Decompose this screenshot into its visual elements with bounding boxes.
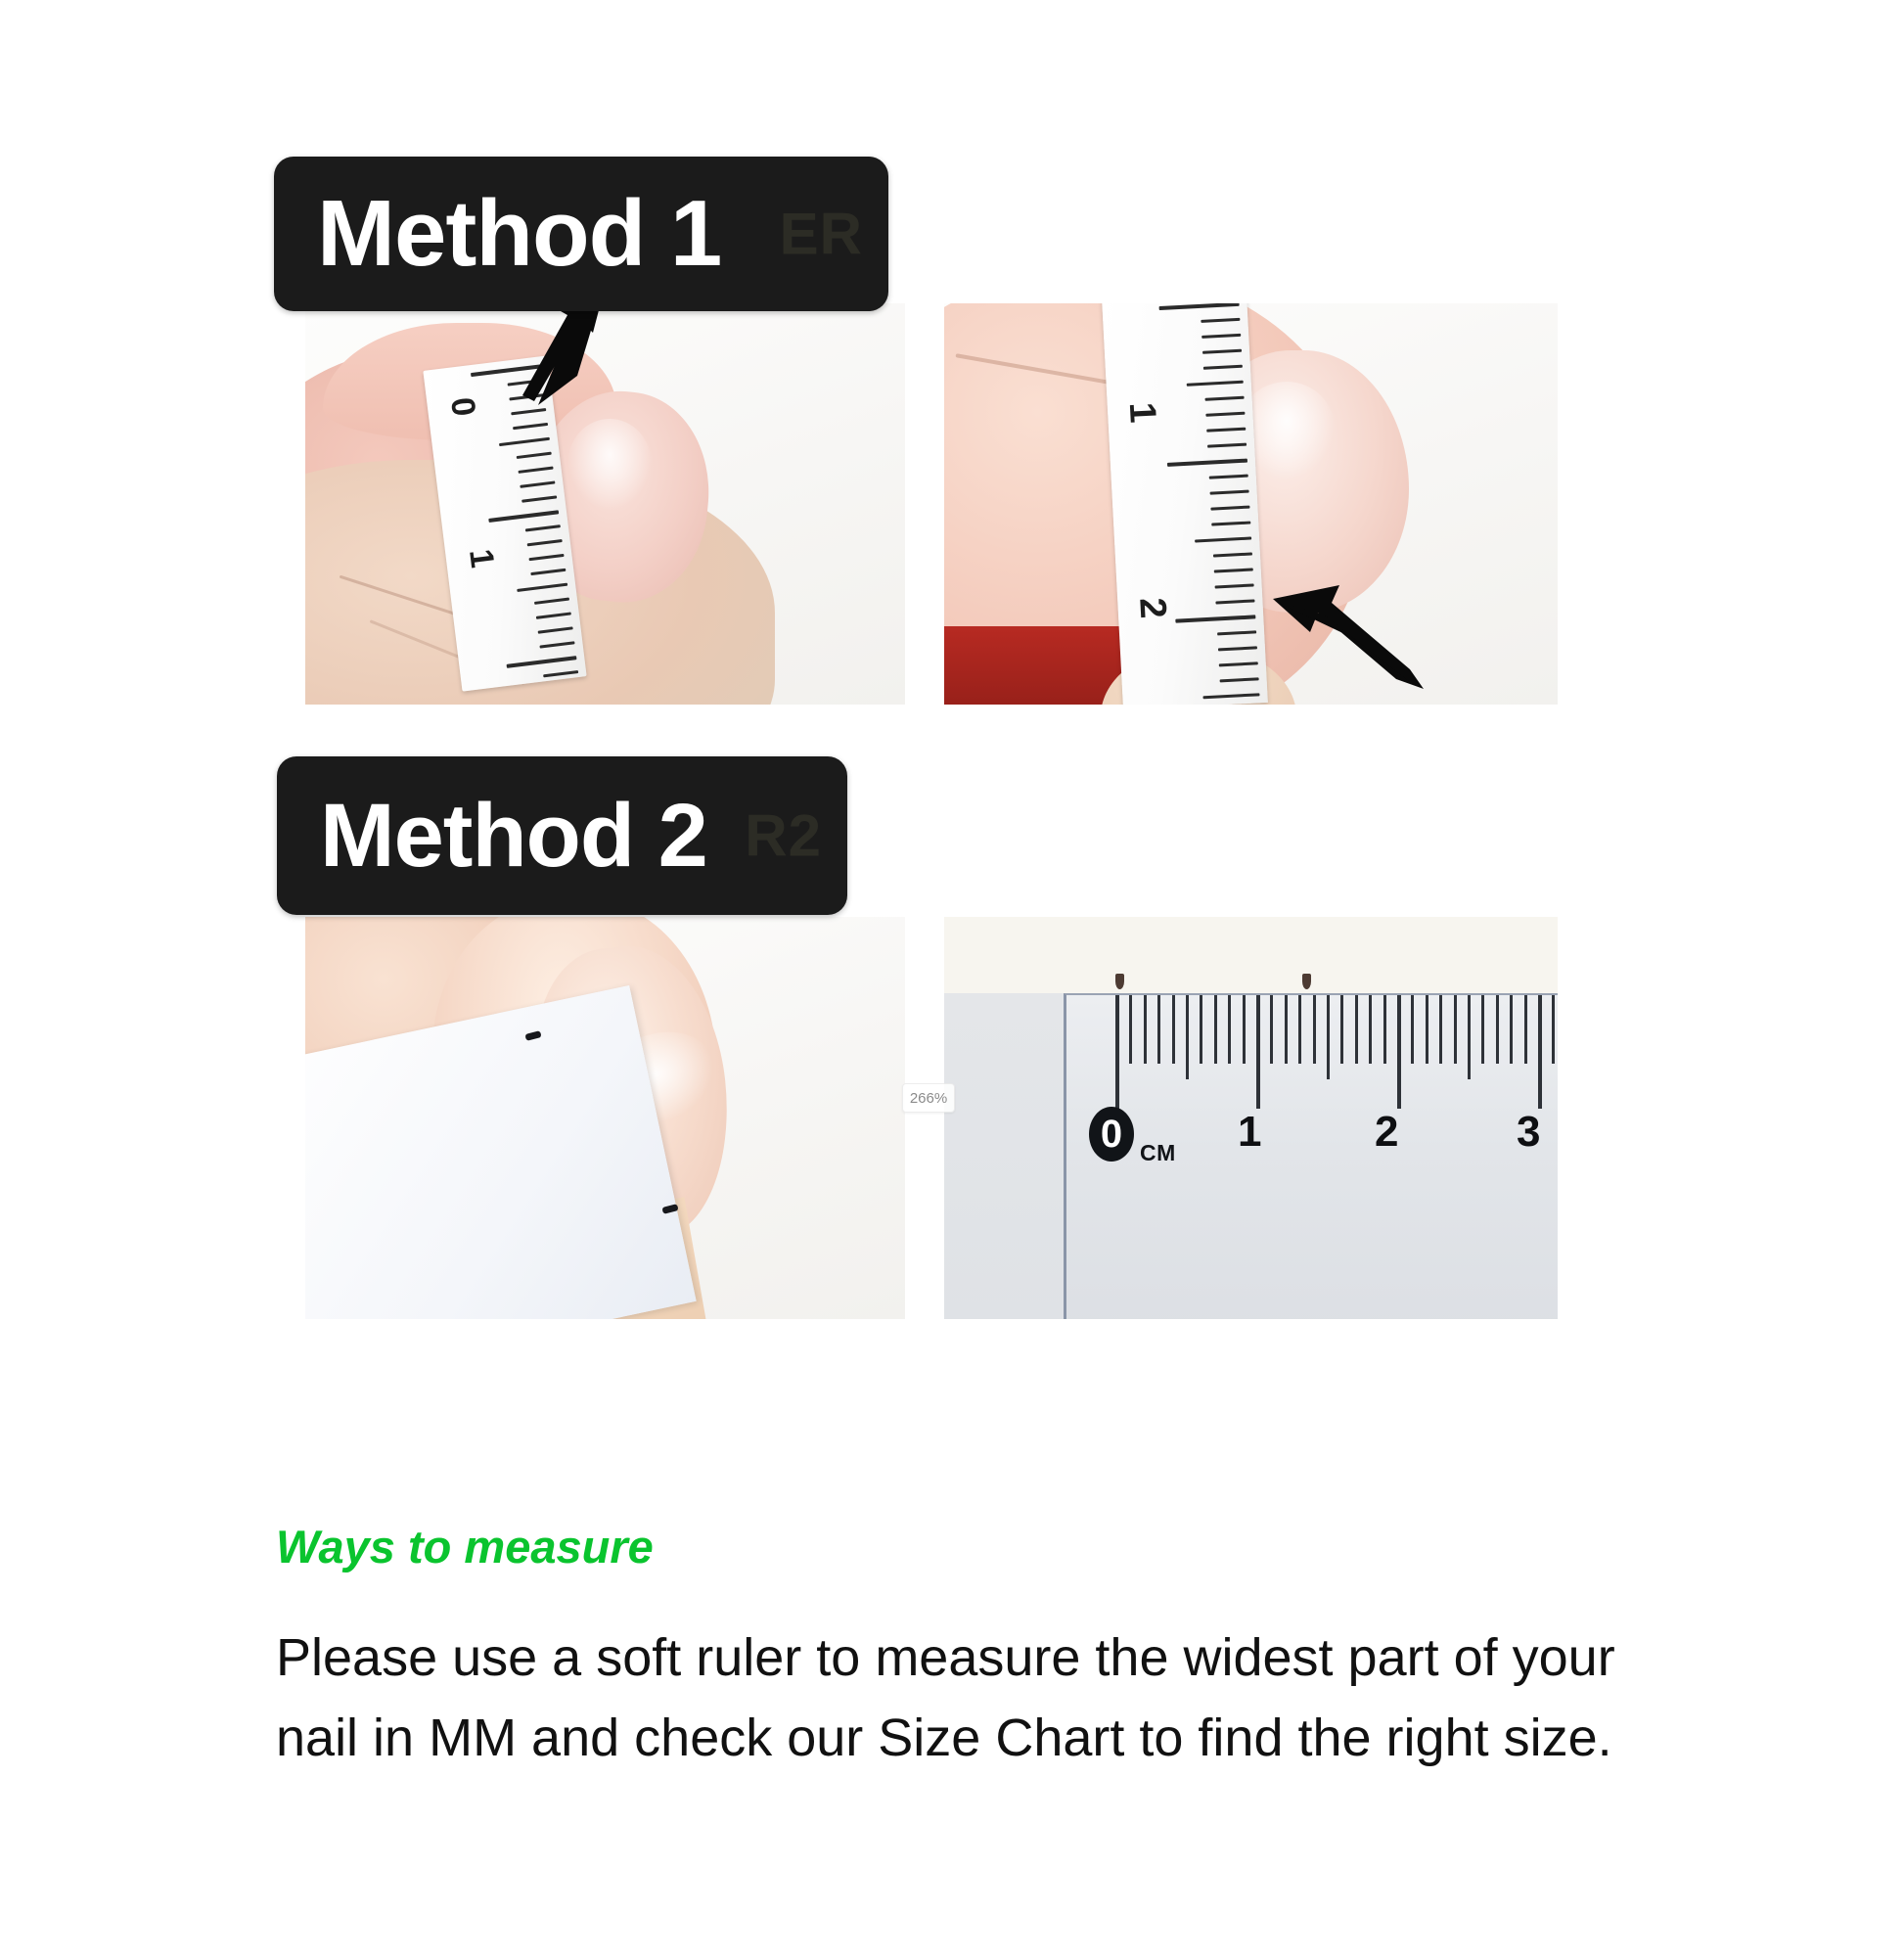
- ruler-label-2: 2: [1375, 1111, 1398, 1154]
- method-2-label: Method 2: [320, 785, 707, 888]
- tape-number-1: 1: [1120, 401, 1163, 424]
- ruler-unit-label: CM: [1140, 1140, 1176, 1166]
- photo-method-2-left: [305, 917, 905, 1319]
- section-heading: Ways to measure: [276, 1522, 1636, 1573]
- zoom-level-indicator[interactable]: 266%: [902, 1083, 955, 1113]
- ruler-marker-dot: [1115, 974, 1124, 989]
- method-2-badge: Method 2 R2: [277, 756, 847, 915]
- zoom-level-label: 266%: [910, 1090, 947, 1107]
- pointer-arrow-icon: [479, 303, 636, 429]
- soft-tape-measure: 1 2: [1102, 303, 1268, 705]
- method-1-label: Method 1: [317, 180, 721, 288]
- ruler-label-1: 1: [1238, 1111, 1261, 1154]
- page-root: 0 1 1 2: [0, 0, 1904, 1960]
- tape-number-0: 0: [442, 395, 482, 419]
- pointer-arrow-icon: [1267, 556, 1443, 705]
- nail-highlight: [567, 419, 652, 509]
- photo-method-1-left: 0 1: [305, 303, 905, 705]
- photo-method-1-right: 1 2: [944, 303, 1558, 705]
- ruler-marker-dot: [1302, 974, 1311, 989]
- section-body-text: Please use a soft ruler to measure the w…: [276, 1618, 1616, 1778]
- copy-block: Ways to measure Please use a soft ruler …: [276, 1522, 1636, 1778]
- photo-method-2-right: 0 CM 1 2 3: [944, 917, 1558, 1319]
- method-1-badge: Method 1 ER: [274, 157, 888, 311]
- badge-watermark: R2: [745, 802, 822, 870]
- badge-watermark: ER: [780, 201, 863, 268]
- ruler-zero-label: 0: [1089, 1107, 1134, 1162]
- tape-number-1: 1: [461, 547, 501, 570]
- ruler-label-3: 3: [1517, 1111, 1540, 1154]
- tape-number-2: 2: [1130, 597, 1173, 619]
